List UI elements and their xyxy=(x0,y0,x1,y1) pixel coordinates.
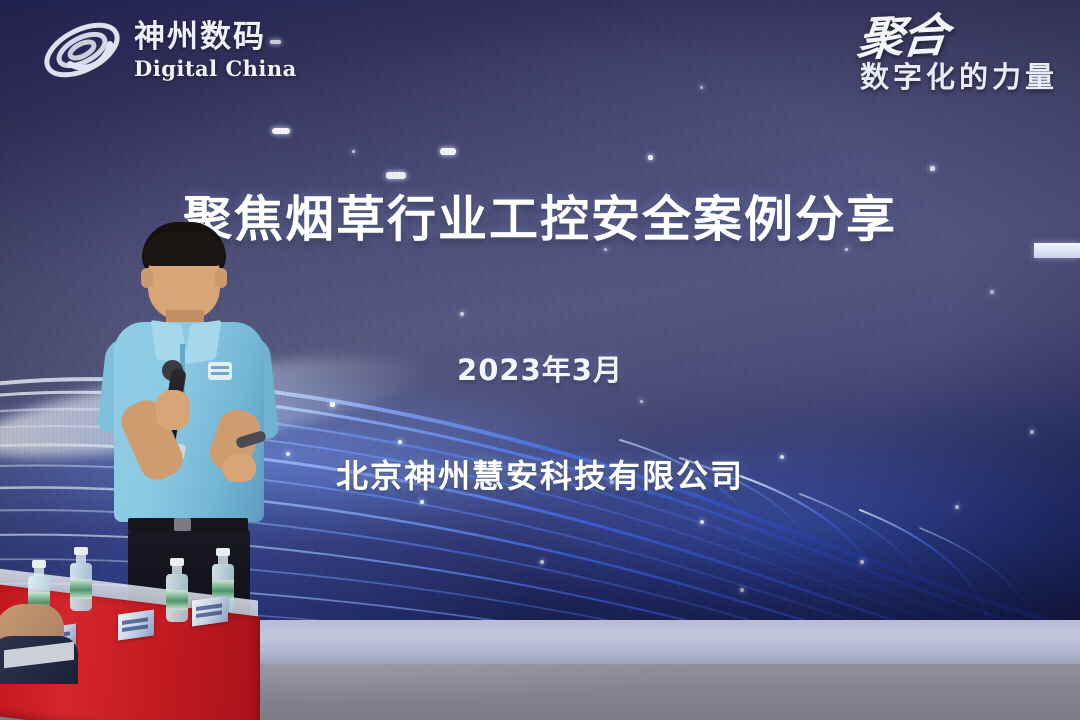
event-slogan-logo: 聚合 数字化的力量 xyxy=(858,16,1058,96)
speaker-ear-right xyxy=(215,268,227,288)
name-card-text xyxy=(196,603,222,611)
speaker-hand-right xyxy=(222,454,256,482)
speaker-shirt-logo xyxy=(208,362,232,380)
bottle-label xyxy=(70,579,92,599)
bottle-neck xyxy=(76,555,86,563)
water-bottle xyxy=(166,558,188,622)
digital-china-logo: 神州数码 Digital China xyxy=(40,14,297,86)
brand-name-en: Digital China xyxy=(134,58,297,79)
decorative-tick xyxy=(1034,243,1080,258)
bottle-body xyxy=(70,563,92,611)
bottle-neck xyxy=(172,566,182,574)
name-card xyxy=(192,595,228,626)
bottle-cap xyxy=(216,548,230,556)
bottle-cap xyxy=(74,547,88,555)
name-card-text xyxy=(122,617,148,625)
speaker-belt-buckle xyxy=(174,518,191,531)
bottle-body xyxy=(166,574,188,622)
bottle-cap xyxy=(170,558,184,566)
slogan-calligraphy: 聚合 xyxy=(855,14,948,62)
conference-photo: 神州数码 Digital China 聚合 数字化的力量 聚焦烟草行业工控安全案… xyxy=(0,0,1080,720)
bottle-cap xyxy=(32,560,46,568)
water-bottle xyxy=(70,547,92,611)
speaker-ear-left xyxy=(141,268,153,288)
speaker-hair-front xyxy=(144,232,224,266)
bottle-label xyxy=(166,590,188,610)
speaker-hand-left xyxy=(156,390,190,430)
name-card xyxy=(118,609,154,640)
brand-name-cn: 神州数码 xyxy=(134,22,297,53)
digital-china-swirl-icon xyxy=(40,14,124,86)
bottle-neck xyxy=(34,568,44,576)
bottle-neck xyxy=(218,556,228,564)
